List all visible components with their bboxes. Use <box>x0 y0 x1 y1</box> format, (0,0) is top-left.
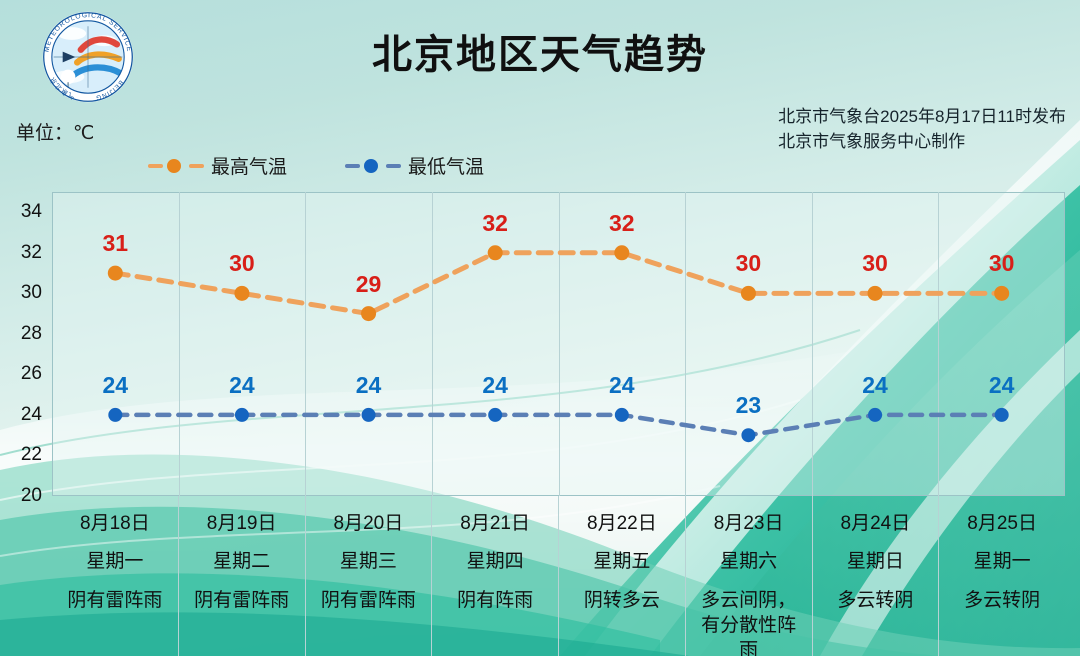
day-column-3: 8月21日星期四阴有阵雨 <box>432 496 559 656</box>
series-line-low <box>115 415 1001 435</box>
data-point-high-2 <box>361 306 376 321</box>
temperature-series <box>52 192 1065 496</box>
dashed-line-with-dot-icon <box>345 159 401 173</box>
y-axis-labels: 3432302826242220 <box>0 192 52 496</box>
day-weekday: 星期三 <box>306 550 432 574</box>
y-axis-tick-28: 28 <box>21 323 42 345</box>
day-column-2: 8月20日星期三阴有雷阵雨 <box>306 496 433 656</box>
value-label-low-4: 24 <box>609 372 635 399</box>
unit-label: 单位：℃ <box>16 118 94 145</box>
data-point-high-7 <box>994 286 1009 301</box>
day-condition: 多云转阴 <box>939 588 1065 613</box>
day-column-0: 8月18日星期一阴有雷阵雨 <box>52 496 179 656</box>
y-axis-tick-24: 24 <box>21 404 42 426</box>
day-condition: 阴有雷阵雨 <box>306 588 432 613</box>
value-label-high-7: 30 <box>989 250 1015 277</box>
weather-trend-page: METEOROLOGICAL SERVICE BEIJING 气象北京 北京地区… <box>0 0 1080 656</box>
temperature-chart: 31302932323030302424242424232424 <box>52 192 1065 496</box>
data-point-low-5 <box>741 428 755 442</box>
y-axis-tick-26: 26 <box>21 363 42 385</box>
value-label-low-5: 23 <box>736 392 762 419</box>
day-condition: 阴有雷阵雨 <box>179 588 305 613</box>
data-point-high-4 <box>614 245 629 260</box>
data-point-high-3 <box>488 245 503 260</box>
day-weekday: 星期二 <box>179 550 305 574</box>
day-date: 8月20日 <box>306 512 432 536</box>
day-date: 8月22日 <box>559 512 685 536</box>
day-columns: 8月18日星期一阴有雷阵雨8月19日星期二阴有雷阵雨8月20日星期三阴有雷阵雨8… <box>52 496 1065 656</box>
day-weekday: 星期一 <box>939 550 1065 574</box>
day-condition: 阴有阵雨 <box>432 588 558 613</box>
value-label-low-3: 24 <box>482 372 508 399</box>
data-point-low-1 <box>235 408 249 422</box>
issuer-info: 北京市气象台2025年8月17日11时发布 北京市气象服务中心制作 <box>778 104 1066 154</box>
day-weekday: 星期日 <box>813 550 939 574</box>
value-label-high-2: 29 <box>356 271 382 298</box>
y-axis-tick-20: 20 <box>21 485 42 507</box>
data-point-low-6 <box>868 408 882 422</box>
value-label-low-6: 24 <box>862 372 888 399</box>
day-date: 8月25日 <box>939 512 1065 536</box>
legend-label-low: 最低气温 <box>408 152 484 179</box>
value-label-low-2: 24 <box>356 372 382 399</box>
legend-label-high: 最高气温 <box>211 152 287 179</box>
day-weekday: 星期五 <box>559 550 685 574</box>
data-point-high-1 <box>234 286 249 301</box>
data-point-high-5 <box>741 286 756 301</box>
day-column-5: 8月23日星期六多云间阴，有分散性阵雨 <box>686 496 813 656</box>
day-condition: 阴有雷阵雨 <box>52 588 178 613</box>
day-condition: 多云间阴，有分散性阵雨 <box>686 588 812 656</box>
day-date: 8月19日 <box>179 512 305 536</box>
data-point-low-3 <box>488 408 502 422</box>
data-point-low-2 <box>362 408 376 422</box>
data-point-low-0 <box>108 408 122 422</box>
day-date: 8月18日 <box>52 512 178 536</box>
data-point-high-6 <box>868 286 883 301</box>
day-date: 8月24日 <box>813 512 939 536</box>
value-label-low-1: 24 <box>229 372 255 399</box>
day-column-1: 8月19日星期二阴有雷阵雨 <box>179 496 306 656</box>
value-label-low-0: 24 <box>103 372 129 399</box>
issuer-line-2: 北京市气象服务中心制作 <box>778 129 1066 154</box>
day-weekday: 星期四 <box>432 550 558 574</box>
y-axis-tick-32: 32 <box>21 242 42 264</box>
value-label-high-5: 30 <box>736 250 762 277</box>
day-column-7: 8月25日星期一多云转阴 <box>939 496 1065 656</box>
y-axis-tick-22: 22 <box>21 444 42 466</box>
day-date: 8月23日 <box>686 512 812 536</box>
y-axis-tick-34: 34 <box>21 201 42 223</box>
data-point-high-0 <box>108 266 123 281</box>
value-label-high-3: 32 <box>482 210 508 237</box>
value-label-high-6: 30 <box>862 250 888 277</box>
day-weekday: 星期六 <box>686 550 812 574</box>
legend-item-high: 最高气温 <box>148 152 287 179</box>
data-point-low-7 <box>995 408 1009 422</box>
day-column-4: 8月22日星期五阴转多云 <box>559 496 686 656</box>
value-label-high-0: 31 <box>103 230 129 257</box>
issuer-line-1: 北京市气象台2025年8月17日11时发布 <box>778 104 1066 129</box>
day-date: 8月21日 <box>432 512 558 536</box>
day-weekday: 星期一 <box>52 550 178 574</box>
legend-item-low: 最低气温 <box>345 152 484 179</box>
value-label-high-1: 30 <box>229 250 255 277</box>
value-label-high-4: 32 <box>609 210 635 237</box>
data-point-low-4 <box>615 408 629 422</box>
value-label-low-7: 24 <box>989 372 1015 399</box>
day-column-6: 8月24日星期日多云转阴 <box>813 496 940 656</box>
dashed-line-with-dot-icon <box>148 159 204 173</box>
page-title: 北京地区天气趋势 <box>0 22 1080 80</box>
chart-legend: 最高气温 最低气温 <box>148 152 484 179</box>
y-axis-tick-30: 30 <box>21 282 42 304</box>
day-condition: 多云转阴 <box>813 588 939 613</box>
day-condition: 阴转多云 <box>559 588 685 613</box>
